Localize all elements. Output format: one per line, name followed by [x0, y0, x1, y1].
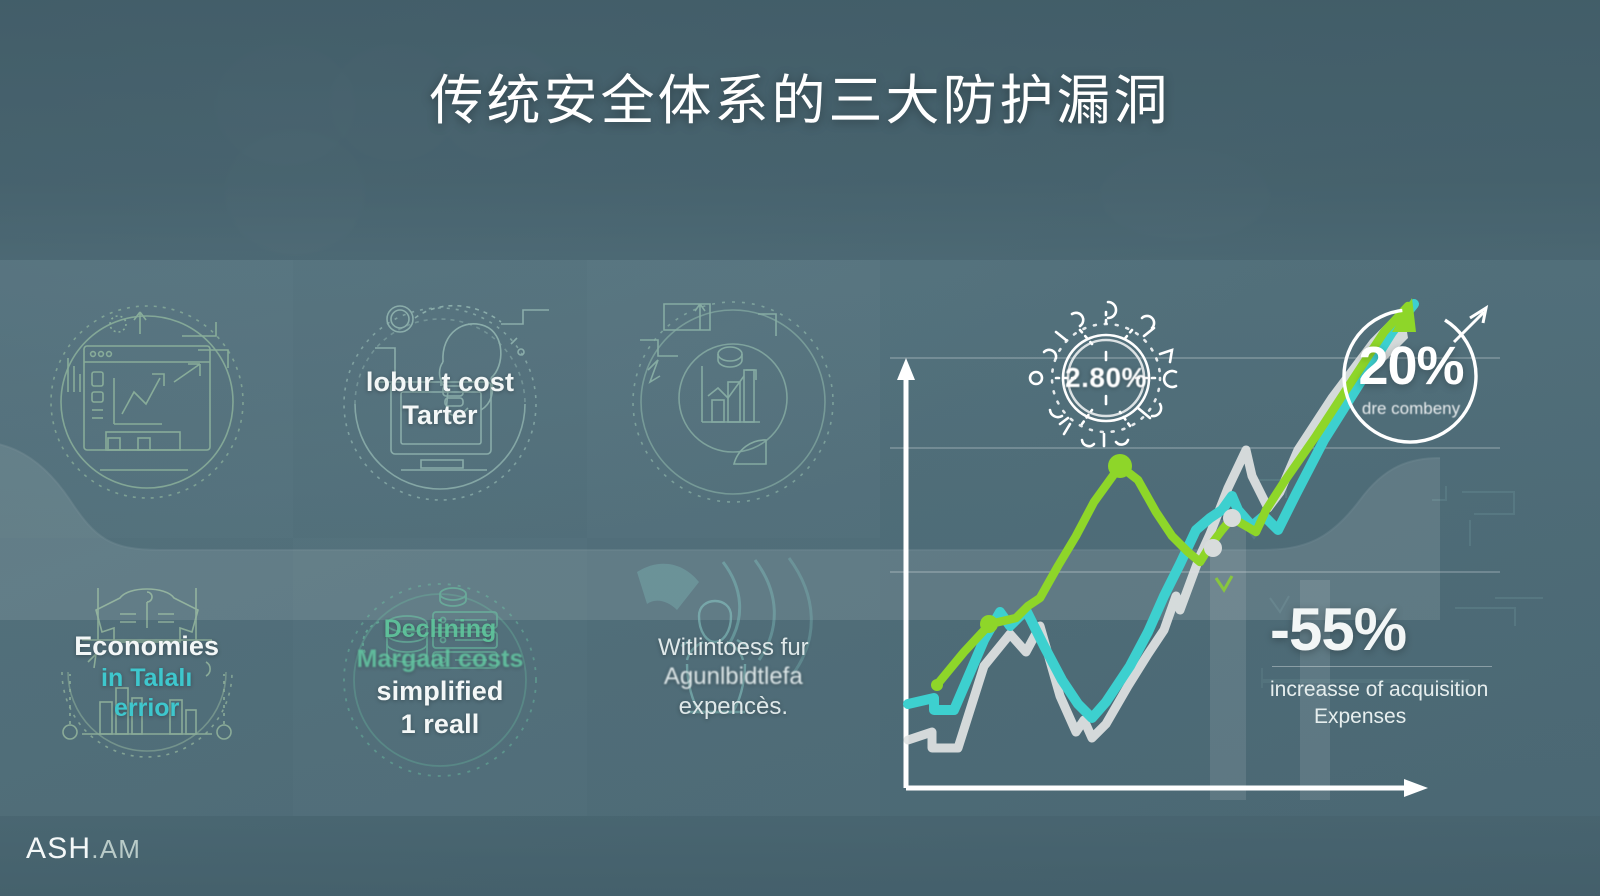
browser-chart-circle-icon — [0, 260, 293, 538]
slide-canvas: 传统安全体系的三大防护漏洞 — [0, 0, 1600, 896]
acquisition-stat-value: -55% — [1270, 600, 1570, 660]
feature-cell-text: DecliningMargaal costssimplified1 reall — [357, 614, 524, 741]
feature-cell-text: Economiesin Talalıerrior — [74, 630, 219, 724]
feature-cell-economies[interactable]: Economiesin Talalıerrior — [0, 538, 293, 816]
feature-cell-line: Declining — [357, 614, 524, 645]
feature-cell-declining-costs[interactable]: DecliningMargaal costssimplified1 reall — [293, 538, 586, 816]
feature-cell-dashboard-growth[interactable] — [0, 260, 293, 538]
y-axis-arrow — [897, 358, 915, 380]
footer-band — [0, 816, 1600, 896]
feature-cell-line: simplified — [357, 675, 524, 708]
feature-cell-line: in Talalı — [74, 663, 219, 694]
feature-cell-labour-cost[interactable]: lobur t costTarter — [293, 260, 586, 538]
feature-cell-willingness[interactable]: Witlintoess furAgunlbidtlefaexpencès. — [587, 538, 880, 816]
feature-cell-line: errior — [74, 693, 219, 724]
brand-logo[interactable]: ASH.AM — [26, 832, 141, 866]
brand-logo-primary: ASH — [26, 832, 91, 865]
feature-cell-line: Margaal costs — [357, 644, 524, 675]
growth-badge-circle — [1330, 300, 1494, 462]
feature-cell-text: lobur t costTarter — [366, 366, 514, 432]
feature-cell-line: Agunlbidtlefa — [658, 662, 809, 691]
feature-cell-text: Witlintoess furAgunlbidtlefaexpencès. — [658, 633, 809, 721]
feature-cell-line: expencès. — [658, 692, 809, 721]
feature-cell-line: lobur t cost — [366, 366, 514, 399]
acquisition-caption-line2: Expenses — [1314, 704, 1570, 731]
feature-cell-line: Witlintoess fur — [658, 633, 809, 662]
acquisition-caption-line1: increasse of acquisition — [1270, 678, 1488, 701]
acquisition-stat-rule — [1272, 666, 1492, 667]
feature-cell-bar-chart-analytics[interactable] — [587, 260, 880, 538]
brand-logo-secondary: .AM — [91, 834, 141, 864]
feature-cell-line: Tarter — [366, 399, 514, 432]
x-axis-arrow — [1404, 779, 1428, 797]
acquisition-stat-caption: increasse of acquisition Expenses — [1270, 677, 1570, 731]
feature-grid: lobur t costTarter — [0, 260, 880, 816]
page-title: 传统安全体系的三大防护漏洞 — [0, 56, 1600, 135]
feature-cell-line: 1 reall — [357, 708, 524, 741]
dial-value: 2.80% — [1020, 292, 1192, 464]
bar-chart-circle-icon — [587, 260, 880, 538]
feature-cell-line: Economies — [74, 630, 219, 663]
acquisition-stat: -55% increasse of acquisition Expenses — [1270, 600, 1570, 731]
dial-badge: 2.80% — [1020, 292, 1192, 464]
